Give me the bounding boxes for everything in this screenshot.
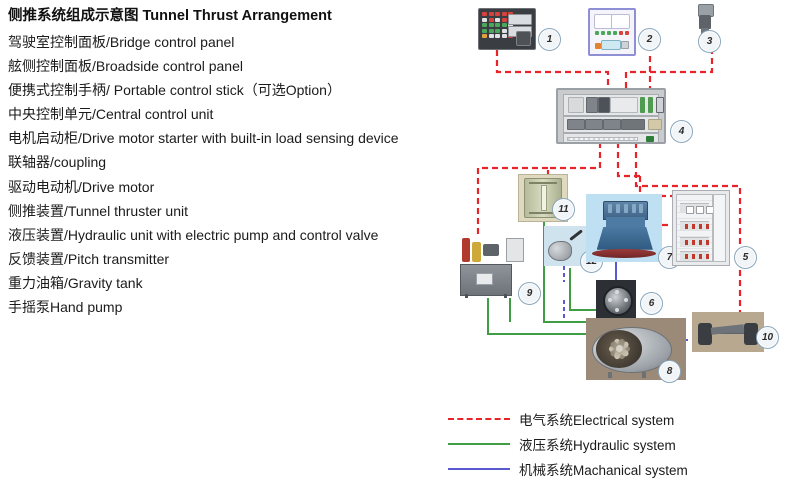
filter-red [462,238,470,262]
item-label-11: 重力油箱/Gravity tank [8,271,460,295]
control-valve-box [506,238,524,262]
equipment-pitch-transmitter[interactable] [692,312,764,352]
callout-9: 9 [518,282,541,305]
shelf-middle [563,116,659,133]
item-label-1: 驾驶室控制面板/Bridge control panel [8,30,460,54]
equipment-coupling[interactable] [596,280,636,318]
oil-tank [460,264,512,296]
hydraulic-line-swatch [448,443,510,445]
callout-8: 8 [658,360,681,383]
electrical-label: 电气系统Electrical system [519,409,674,429]
pump-body [548,241,572,261]
callout-6: 6 [640,292,663,315]
selector-knob[interactable] [621,41,629,49]
item-label-12: 手摇泵Hand pump [8,295,460,319]
system-diagram: 1 2 3 [440,0,788,400]
display-right [611,14,630,29]
callout-11: 11 [552,198,575,221]
mechanical-line-swatch [448,468,510,470]
item-label-4: 中央控制单元/Central control unit [8,102,460,126]
cabinet-side-panel [713,194,726,262]
stick-body [699,15,711,29]
motor-flange [592,249,656,258]
callout-4: 4 [670,120,693,143]
breaker-row-3 [680,237,709,247]
electric-pump [483,244,499,256]
callout-3: 3 [698,30,721,53]
callout-2: 2 [638,28,661,51]
breaker-row-4 [680,251,709,261]
joystick-icon[interactable] [516,31,531,46]
item-label-6: 联轴器/coupling [8,150,460,174]
pump-lever[interactable] [569,229,583,241]
filter-yellow [472,242,481,262]
legend-text-panel: 侧推系统组成示意图 Tunnel Thrust Arrangement 驾驶室控… [8,6,460,319]
shelf-upper [563,94,659,116]
keypad-icon[interactable] [601,40,621,50]
equipment-motor-starter-cabinet[interactable] [672,190,730,266]
breaker-row-2 [680,221,709,231]
key-row-electrical: 电气系统Electrical system [448,406,778,431]
display-upper [508,14,532,25]
key-row-mechanical: 机械系统Machanical system [448,456,778,481]
item-label-8: 侧推装置/Tunnel thruster unit [8,199,460,223]
equipment-bridge-control-panel[interactable] [478,8,536,50]
motor-neck [606,217,646,228]
breaker-row-1 [680,203,709,213]
item-label-10: 反馈装置/Pitch transmitter [8,247,460,271]
indicator-leds [595,31,629,35]
mechanical-label: 机械系统Machanical system [519,459,688,479]
tank-nameplate [476,273,493,285]
callout-1: 1 [538,28,561,51]
item-label-2: 舷侧控制面板/Broadside control panel [8,54,460,78]
key-row-hydraulic: 液压系统Hydraulic system [448,431,778,456]
item-label-7: 驱动电动机/Drive motor [8,175,460,199]
callout-10: 10 [756,326,779,349]
item-label-9: 液压装置/Hydraulic unit with electric pump a… [8,223,460,247]
yoke-left [698,323,712,345]
shelf-terminal [563,133,659,144]
equipment-drive-motor[interactable] [586,194,662,262]
equipment-broadside-control-panel[interactable] [588,8,636,56]
page-title: 侧推系统组成示意图 Tunnel Thrust Arrangement [8,6,460,27]
equipment-central-control-unit[interactable] [556,88,666,144]
coupling-disc [603,286,633,316]
item-label-3: 便携式控制手柄/ Portable control stick（可选Option… [8,78,460,102]
electrical-line-swatch [448,418,510,420]
motor-housing [597,227,653,250]
item-label-5: 电机启动柜/Drive motor starter with built-in … [8,126,460,150]
sight-glass [541,185,547,211]
hydraulic-label: 液压系统Hydraulic system [519,434,676,454]
cabinet-door [676,194,713,262]
equipment-hydraulic-unit[interactable] [458,236,526,298]
system-type-key: 电气系统Electrical system 液压系统Hydraulic syst… [448,406,778,481]
thruster-bore [596,330,642,367]
callout-5: 5 [734,246,757,269]
